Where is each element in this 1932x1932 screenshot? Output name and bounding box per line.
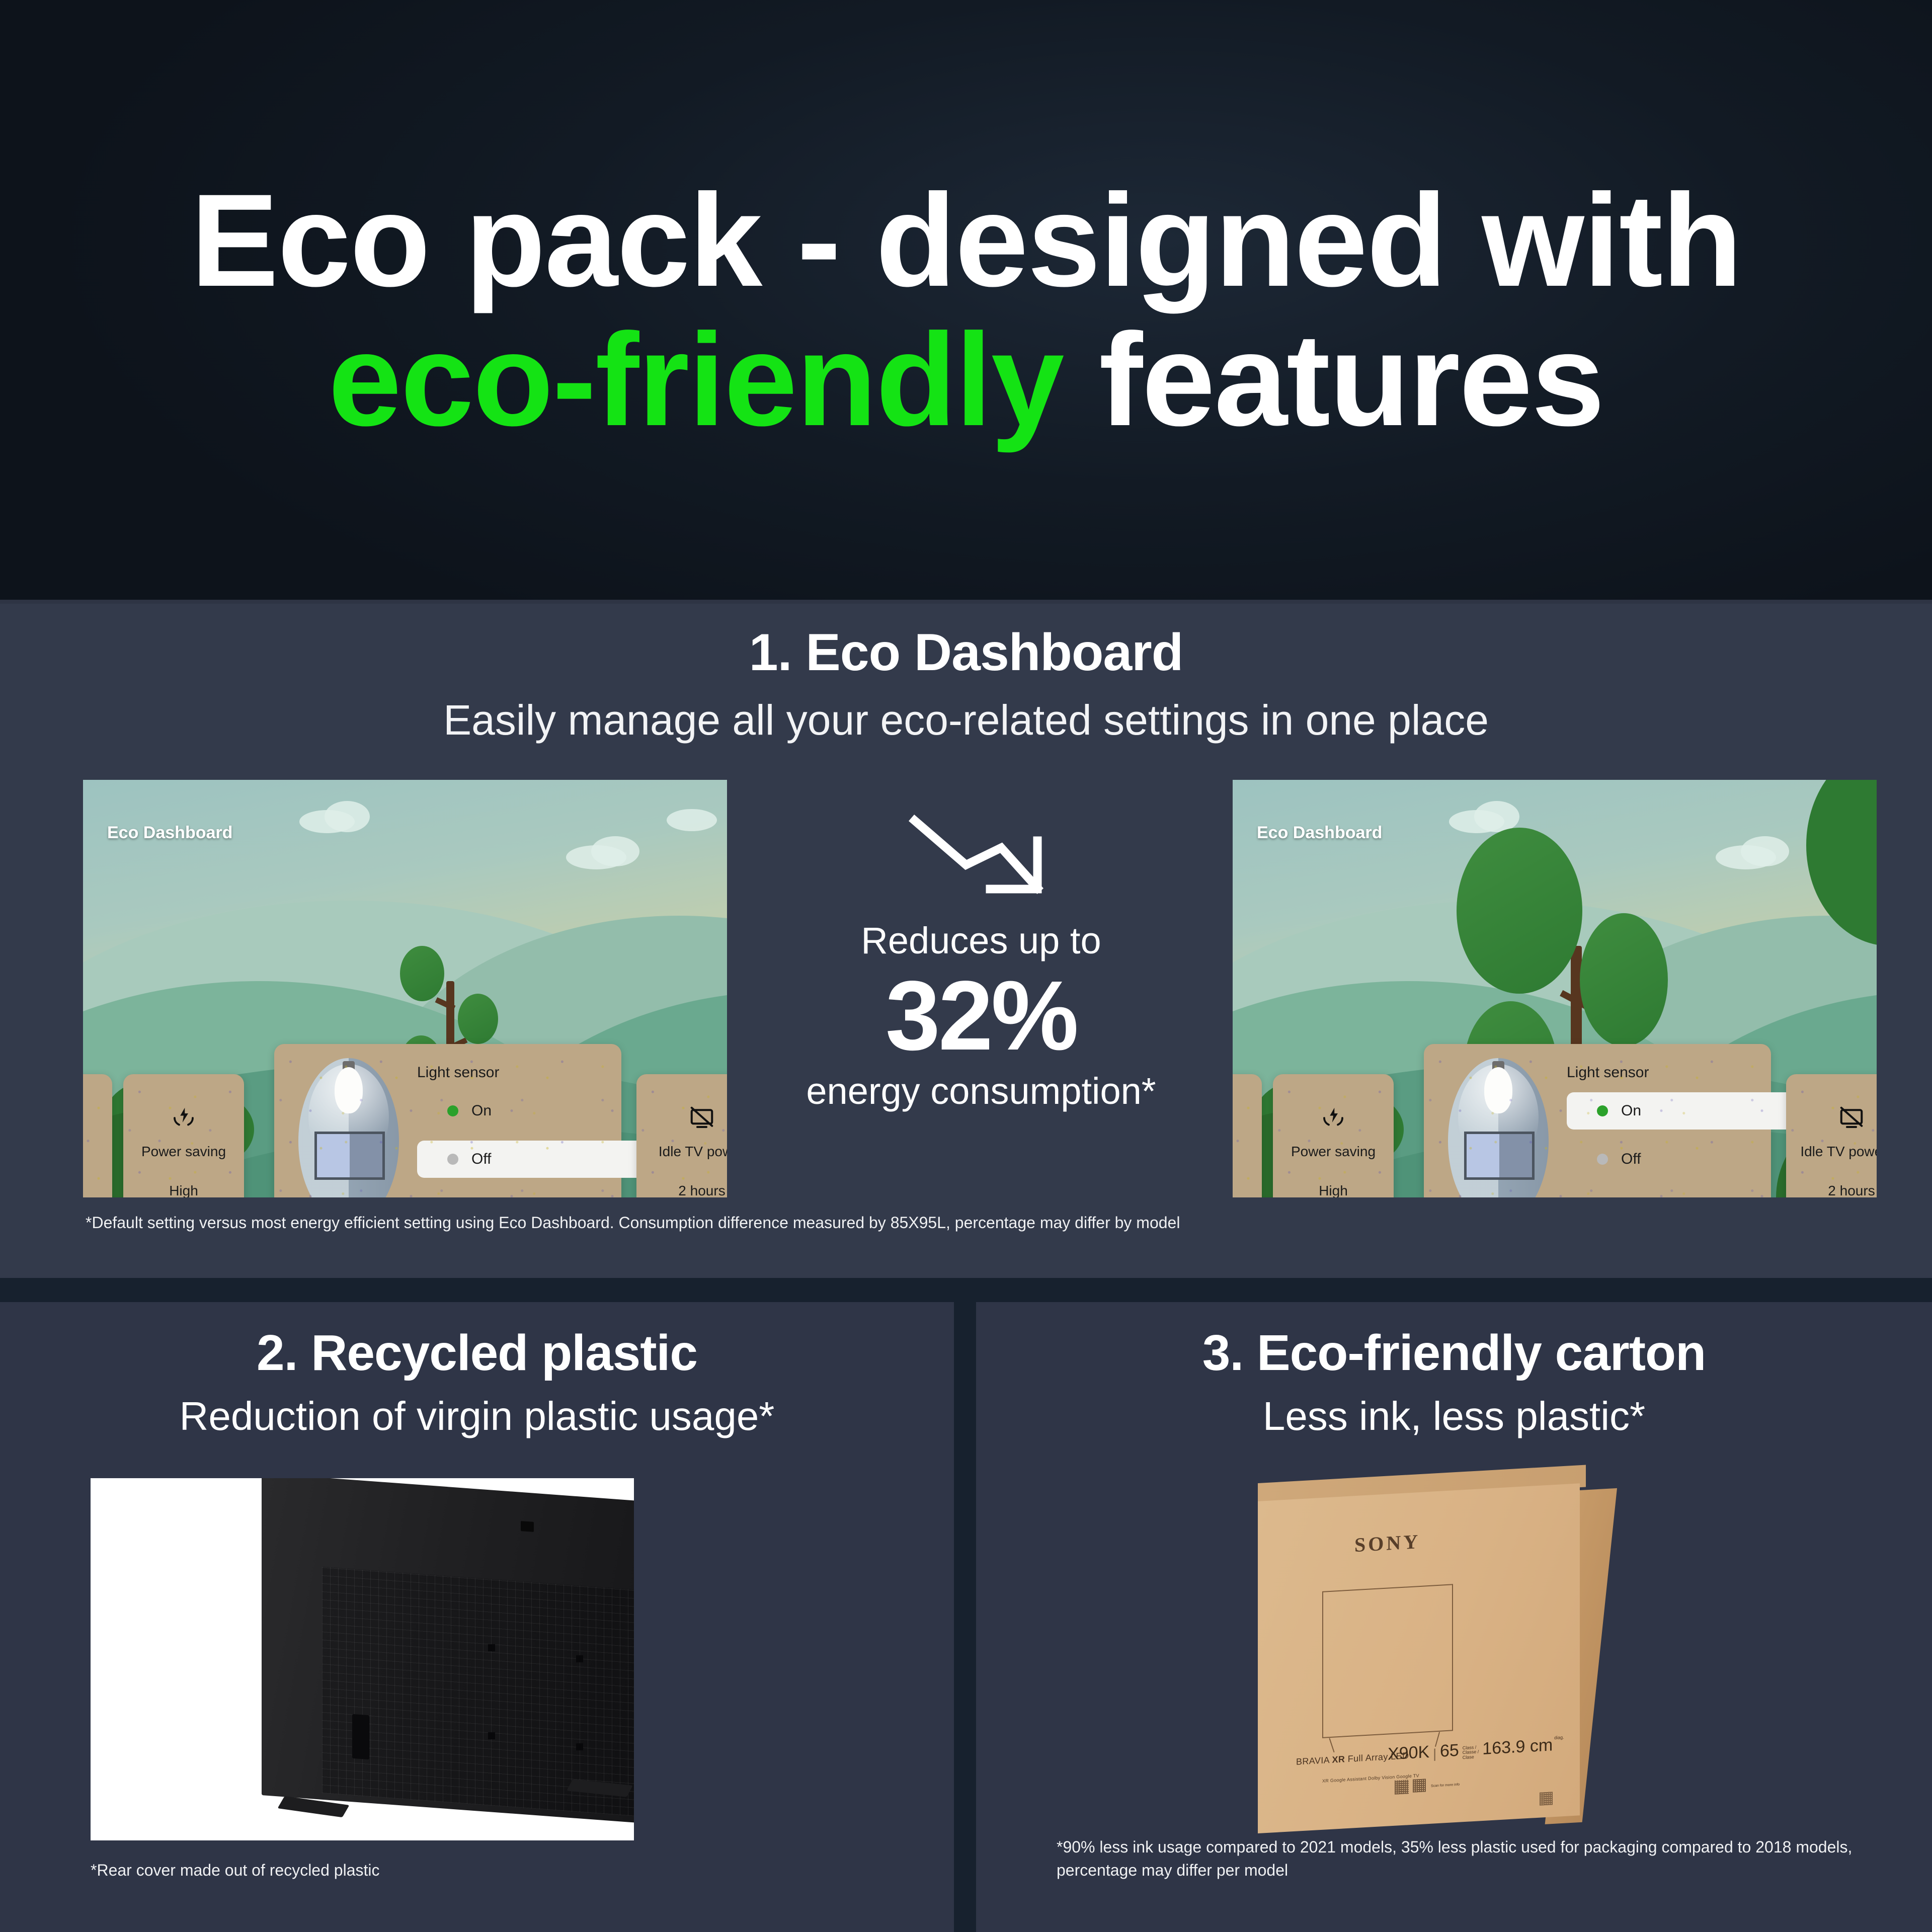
light-bulb-sensor-icon bbox=[1448, 1058, 1549, 1197]
dashboard-card-light-sensor[interactable]: Light sensor On Off bbox=[274, 1044, 621, 1197]
section2-footnote: *Rear cover made out of recycled plastic bbox=[91, 1859, 379, 1882]
dashboard-card-idle-tv-power[interactable]: Idle TV power 2 hours bbox=[636, 1074, 727, 1197]
radio-dot-off bbox=[447, 1154, 458, 1165]
stat-top-label: Reduces up to bbox=[755, 919, 1207, 962]
dashboard-card-power-saving[interactable]: Power saving High bbox=[123, 1074, 244, 1197]
carton-model-line: X90K | 65 Class / Classe / Clase 163.9 c… bbox=[1388, 1735, 1564, 1764]
eco-pack-infographic: Eco pack - designed with eco-friendly fe… bbox=[0, 0, 1932, 1932]
radio-dot-on bbox=[1597, 1105, 1608, 1116]
stat-bottom-label: energy consumption* bbox=[755, 1070, 1207, 1112]
energy-reduction-stat: Reduces up to 32% energy consumption* bbox=[755, 813, 1207, 1112]
hero-banner: Eco pack - designed with eco-friendly fe… bbox=[0, 0, 1932, 600]
cloud-icon bbox=[591, 836, 639, 866]
option-label: Off bbox=[471, 1151, 491, 1168]
radio-dot-off bbox=[1597, 1154, 1608, 1165]
dashboard-card-power-saving[interactable]: Power saving High bbox=[1273, 1074, 1394, 1197]
tv-outline-illustration bbox=[1322, 1584, 1453, 1738]
qr-code-icon bbox=[1395, 1780, 1409, 1795]
light-sensor-option-off[interactable]: Off bbox=[417, 1141, 659, 1178]
eco-dashboard-screen-default: Eco Dashboard Power saving High bbox=[83, 780, 727, 1197]
light-sensor-option-on[interactable]: On bbox=[417, 1092, 659, 1130]
carton-metric: 163.9 cm bbox=[1482, 1735, 1553, 1759]
card-value: High bbox=[169, 1183, 198, 1197]
section2-title: 2. Recycled plastic bbox=[0, 1324, 954, 1382]
section3-title: 3. Eco-friendly carton bbox=[976, 1324, 1932, 1382]
section3-footnote: *90% less ink usage compared to 2021 mod… bbox=[1057, 1835, 1887, 1882]
screen-label-eco-dashboard: Eco Dashboard bbox=[1257, 823, 1382, 843]
card-label: Idle TV power bbox=[659, 1144, 727, 1160]
carton-diag: diag. bbox=[1554, 1735, 1564, 1740]
dashboard-card-edge[interactable] bbox=[83, 1074, 112, 1197]
hero-title-line-2: eco-friendly features bbox=[328, 312, 1603, 447]
eco-dashboard-screen-optimized: Eco Dashboard Power saving High bbox=[1233, 780, 1877, 1197]
carton-bravia: BRAVIA bbox=[1296, 1755, 1332, 1767]
section1-title: 1. Eco Dashboard bbox=[0, 623, 1932, 683]
tv-off-icon bbox=[1838, 1100, 1865, 1136]
carton-size: 65 bbox=[1440, 1741, 1459, 1761]
downward-trend-arrow-icon bbox=[906, 813, 1057, 908]
card-label: Power saving bbox=[1291, 1144, 1376, 1160]
card-label: Power saving bbox=[141, 1144, 226, 1160]
carton-xr: XR bbox=[1332, 1754, 1345, 1764]
qr-caption: Scan for more info bbox=[1431, 1783, 1460, 1788]
hero-title-line-1: Eco pack - designed with bbox=[191, 173, 1741, 307]
card-label: Idle TV power of bbox=[1800, 1144, 1877, 1160]
sony-logo: SONY bbox=[1354, 1530, 1420, 1557]
light-sensor-option-on[interactable]: On bbox=[1567, 1092, 1808, 1130]
cloud-icon bbox=[1741, 836, 1789, 866]
radio-dot-on bbox=[447, 1105, 458, 1116]
tv-rear-cover-photo bbox=[91, 1478, 634, 1840]
eco-carton-box-photo: SONY BRAVIA XR Full Array LED X90K | 65 … bbox=[1258, 1478, 1660, 1850]
section1-subtitle: Easily manage all your eco-related setti… bbox=[0, 696, 1932, 745]
section2-subtitle: Reduction of virgin plastic usage* bbox=[0, 1393, 954, 1439]
section-recycled-plastic: 2. Recycled plastic Reduction of virgin … bbox=[0, 1302, 954, 1932]
cloud-icon bbox=[667, 809, 717, 831]
hero-title-rest: features bbox=[1063, 306, 1603, 453]
cloud-icon bbox=[325, 801, 370, 832]
option-label: On bbox=[471, 1102, 492, 1119]
light-bulb-sensor-icon bbox=[298, 1058, 399, 1197]
card-value: High bbox=[1319, 1183, 1348, 1197]
carton-model: X90K bbox=[1388, 1742, 1429, 1764]
card-value: 2 hours bbox=[1828, 1183, 1875, 1197]
carton-corner-mark bbox=[1540, 1792, 1553, 1805]
dashboard-card-light-sensor[interactable]: Light sensor On Off bbox=[1424, 1044, 1771, 1197]
tv-off-icon bbox=[688, 1100, 715, 1136]
option-label: On bbox=[1621, 1102, 1641, 1119]
light-sensor-label: Light sensor bbox=[417, 1064, 659, 1081]
hero-title-accent: eco-friendly bbox=[328, 306, 1063, 453]
dashboard-card-idle-tv-power[interactable]: Idle TV power of 2 hours bbox=[1786, 1074, 1877, 1197]
energy-saving-icon bbox=[170, 1100, 197, 1136]
option-label: Off bbox=[1621, 1151, 1641, 1168]
light-sensor-label: Light sensor bbox=[1567, 1064, 1808, 1081]
screen-label-eco-dashboard: Eco Dashboard bbox=[107, 823, 232, 843]
qr-code-icon bbox=[1413, 1779, 1426, 1792]
section3-subtitle: Less ink, less plastic* bbox=[976, 1393, 1932, 1439]
cloud-icon bbox=[1474, 801, 1519, 832]
stat-value: 32% bbox=[755, 964, 1207, 1068]
dashboard-comparison-row: Eco Dashboard Power saving High bbox=[0, 780, 1932, 1182]
section1-footnote: *Default setting versus most energy effi… bbox=[86, 1214, 1180, 1232]
energy-saving-icon bbox=[1320, 1100, 1347, 1136]
light-sensor-option-off[interactable]: Off bbox=[1567, 1141, 1808, 1178]
carton-class-label: Class / Classe / Clase bbox=[1463, 1745, 1479, 1760]
section-eco-carton: 3. Eco-friendly carton Less ink, less pl… bbox=[976, 1302, 1932, 1932]
horizontal-divider bbox=[0, 1278, 1932, 1302]
dashboard-card-edge[interactable] bbox=[1233, 1074, 1262, 1197]
vertical-divider bbox=[954, 1302, 976, 1932]
card-value: 2 hours bbox=[678, 1183, 725, 1197]
